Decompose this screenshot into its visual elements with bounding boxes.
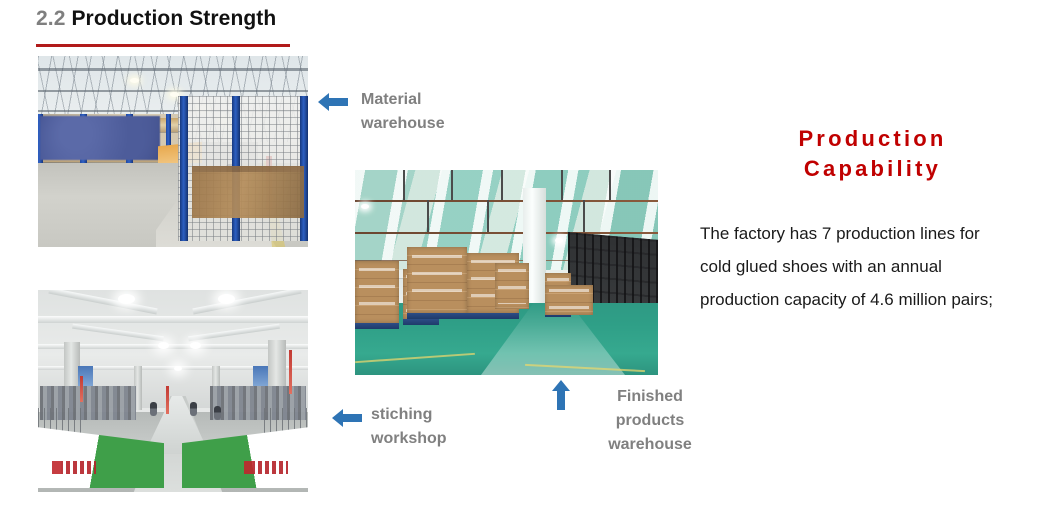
arrow-up-icon-finished	[551, 380, 571, 410]
callout-stitching-line1: stiching	[371, 403, 511, 427]
capability-body-text: The factory has 7 production lines for c…	[700, 217, 1048, 316]
callout-material-line1: Material	[361, 88, 511, 112]
arrow-left-icon-material	[318, 92, 348, 112]
capability-heading: Production Capability	[700, 124, 1045, 184]
photo-material-warehouse	[38, 56, 308, 247]
arrow-left-icon-stitching	[332, 408, 362, 428]
callout-finished-line3: warehouse	[585, 433, 715, 457]
page-title: 2.2 Production Strength	[36, 7, 276, 31]
callout-material-line2: warehouse	[361, 112, 511, 136]
title-underline-rule	[36, 44, 290, 47]
capability-heading-line1: Production	[700, 124, 1045, 154]
page-title-number: 2.2	[36, 7, 66, 30]
photo-stiching-workshop	[38, 290, 308, 492]
page-title-text: Production Strength	[71, 7, 276, 30]
callout-material-warehouse: Material warehouse	[361, 88, 511, 136]
callout-finished-line1: Finished	[585, 385, 715, 409]
callout-finished-products-warehouse: Finished products warehouse	[585, 385, 715, 457]
callout-finished-line2: products	[585, 409, 715, 433]
capability-body-line1: The factory has 7 production lines for	[700, 217, 1048, 250]
capability-body-line2: cold glued shoes with an annual	[700, 250, 1048, 283]
callout-stiching-workshop: stiching workshop	[371, 403, 511, 451]
capability-heading-line2: Capability	[700, 154, 1045, 184]
capability-body-line3: production capacity of 4.6 million pairs…	[700, 283, 1048, 316]
callout-stitching-line2: workshop	[371, 427, 511, 451]
photo-finished-products-warehouse	[355, 170, 658, 375]
